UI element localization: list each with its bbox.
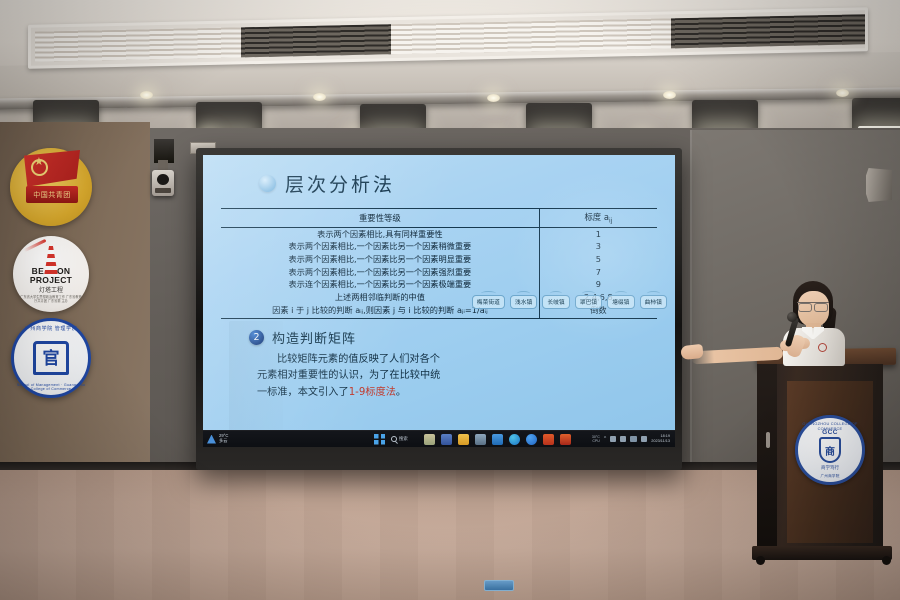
wall-seam — [690, 130, 692, 490]
windows-taskbar[interactable]: 29°C 多云 搜索 — [203, 430, 675, 447]
column-header-importance: 重要性等级 — [221, 209, 539, 228]
column-header-scale: 标度 aij — [539, 209, 657, 228]
slide-watermark — [229, 321, 283, 431]
town-pill: 曲柿镇 — [640, 295, 667, 309]
input-method-icon[interactable] — [630, 436, 637, 442]
perf-monitor-widget[interactable]: 30°C CPU — [592, 435, 600, 444]
bullet-dot-icon — [259, 175, 276, 192]
school-emblem-ring-en: School of Management · Guangzhou College… — [14, 383, 88, 391]
chevron-up-icon[interactable]: ^ — [604, 436, 606, 442]
ptz-camera — [152, 170, 174, 196]
cell-value: 1 — [539, 228, 657, 241]
communist-youth-league-emblem: 中国共青团 — [10, 148, 92, 226]
star-icon — [31, 159, 48, 176]
table-row: 表示连个因素相比,一个因素比另一个因素极端重要 9 — [221, 279, 657, 292]
table-header-row: 重要性等级 标度 aij — [221, 209, 657, 228]
section-heading: 构造判断矩阵 — [272, 328, 356, 347]
school-of-management-emblem: 广州商学院 管理学院 官 School of Management · Guan… — [11, 318, 91, 398]
beacon-subtitle: 广东省大学生思想政治教育工作 广东省教育厅共青团 广东省委 主办 — [20, 295, 82, 303]
cell-description: 表示两个因素相比,具有同样重要性 — [221, 228, 539, 241]
podium-side — [757, 364, 777, 546]
ceiling-downlight — [836, 89, 849, 97]
chrome-icon[interactable] — [526, 434, 537, 445]
lecture-hall-scene: 中国共青团 BEACON PROJECT 灯塔工程 广东省大学生思想政治教育工作… — [0, 0, 900, 600]
cell-description: 表示连个因素相比,一个因素比另一个因素极端重要 — [221, 279, 539, 292]
podium-caster — [882, 556, 891, 565]
podium-caster — [756, 556, 765, 565]
section-body-line1: 比较矩阵元素的值反映了人们对各个 — [277, 354, 440, 365]
school-emblem-glyph: 官 — [33, 341, 69, 375]
volume-icon[interactable] — [641, 436, 647, 442]
town-pill: 长岐镇 — [542, 295, 569, 309]
table-header: 重要性等级 标度 aij — [221, 209, 657, 228]
weather-desc: 多云 — [219, 439, 228, 444]
section-body-line2: 元素相对重要性的认识，为了在比较中统 — [257, 368, 463, 385]
column-header-scale-label: 标度 a — [584, 212, 609, 222]
beacon-title-en2: PROJECT — [30, 276, 72, 285]
cell-description: 表示两个因素相比,一个因素比另一个因素明显重要 — [221, 253, 539, 266]
table-row: 表示两个因素相比,具有同样重要性 1 — [221, 228, 657, 241]
wps-icon[interactable] — [543, 434, 554, 445]
battery-icon[interactable] — [620, 436, 626, 442]
town-pill: 梅菜街道 — [472, 295, 505, 309]
league-band-label: 中国共青团 — [26, 186, 78, 203]
taskbar-system-tray[interactable]: 30°C CPU ^ 18:19 2023/11/13 — [592, 434, 675, 443]
school-emblem-ring-cn: 广州商学院 管理学院 — [14, 325, 88, 332]
hvac-grille-dark-section — [671, 13, 868, 48]
podium-seal-shield-glyph: 商 — [819, 437, 841, 463]
wps-presentation-icon[interactable] — [560, 434, 571, 445]
podium-seal-motto: 商学笃行 — [821, 465, 839, 471]
cell-description: 表示两个因素相比,一个因素比另一个因素强烈重要 — [221, 266, 539, 279]
table-row: 表示两个因素相比,一个因素比另一个因素稍微重要 3 — [221, 241, 657, 254]
edge-icon[interactable] — [509, 434, 520, 445]
mail-icon[interactable] — [492, 434, 503, 445]
start-icon[interactable] — [374, 434, 385, 445]
smart-board[interactable]: 层次分析法 重要性等级 标度 aij 表示两个因素相比,具有同样重要性 — [196, 148, 682, 470]
file-explorer-icon[interactable] — [424, 434, 435, 445]
cell-value: 5 — [539, 253, 657, 266]
podium-base — [752, 546, 892, 560]
perf-cpu: CPU — [592, 439, 600, 443]
student-presenter — [777, 281, 855, 363]
cell-value: 9 — [539, 279, 657, 292]
folder-icon[interactable] — [458, 434, 469, 445]
stage-light — [852, 98, 900, 132]
taskbar-center[interactable]: 搜索 — [353, 434, 592, 445]
floor-outlet-box — [484, 580, 514, 591]
podium-seal-ring-en: GUANGZHOU COLLEGE OF COMMERCE — [798, 421, 862, 431]
podium-seal: GUANGZHOU COLLEGE OF COMMERCE GCC 商 商学笃行… — [795, 415, 865, 485]
search-icon — [391, 436, 397, 442]
clock-date: 2023/11/13 — [651, 439, 670, 444]
beacon-project-emblem: BEACON PROJECT 灯塔工程 广东省大学生思想政治教育工作 广东省教育… — [13, 236, 89, 312]
section-body: 比较矩阵元素的值反映了人们对各个 元素相对重要性的认识，为了在比较中统 一标准，… — [257, 352, 463, 402]
table-row: 表示两个因素相比,一个因素比另一个因素明显重要 5 — [221, 253, 657, 266]
town-pill: 罩巴镇 — [575, 295, 602, 309]
section-body-line3: 一标准，本文引入了1-9标度法。 — [257, 385, 463, 402]
cell-value: 7 — [539, 266, 657, 279]
town-pill: 塘缀镇 — [607, 295, 634, 309]
column-header-scale-sub: ij — [609, 218, 612, 225]
ceiling-downlight — [663, 91, 676, 99]
section-body-highlight: 1-9标度法 — [349, 387, 396, 398]
weather-text: 29°C 多云 — [219, 434, 228, 444]
podium-seal-ring-cn: 广州商学院 — [798, 474, 862, 479]
microphone-icon — [787, 312, 797, 322]
search-placeholder: 搜索 — [399, 436, 408, 442]
board-screen[interactable]: 层次分析法 重要性等级 标度 aij 表示两个因素相比,具有同样重要性 — [203, 155, 675, 447]
search-box[interactable]: 搜索 — [391, 436, 408, 442]
presentation-slide: 层次分析法 重要性等级 标度 aij 表示两个因素相比,具有同样重要性 — [203, 155, 675, 447]
shirt-logo — [818, 343, 827, 352]
ceiling-downlight — [140, 91, 153, 99]
ceiling-downlight — [487, 94, 500, 102]
store-icon[interactable] — [441, 434, 452, 445]
wall-speaker-right — [866, 168, 892, 202]
slide-title: 层次分析法 — [285, 170, 395, 197]
hvac-grille-dark-section — [241, 24, 391, 57]
taskbar-clock[interactable]: 18:19 2023/11/13 — [651, 434, 670, 443]
glasses-icon — [797, 302, 829, 309]
section-body-line3-post: 。 — [396, 387, 406, 398]
town-pill: 浅水镇 — [510, 295, 537, 309]
cell-description: 表示两个因素相比,一个因素比另一个因素稍微重要 — [221, 241, 539, 254]
section-heading-row: 2 构造判断矩阵 — [249, 328, 661, 347]
weather-icon — [207, 435, 216, 444]
lighthouse-icon — [44, 246, 58, 276]
taskbar-weather-widget[interactable]: 29°C 多云 — [203, 434, 353, 444]
slide-title-row: 层次分析法 — [259, 170, 661, 197]
ceiling-downlight — [313, 93, 326, 101]
town-label-row: 梅菜街道 浅水镇 长岐镇 罩巴镇 塘缀镇 曲柿镇 — [472, 295, 667, 309]
podium-handle — [766, 432, 770, 448]
cell-value: 3 — [539, 241, 657, 254]
table-row: 表示两个因素相比,一个因素比另一个因素强烈重要 7 — [221, 266, 657, 279]
network-icon[interactable] — [610, 436, 616, 442]
beacon-title-cn: 灯塔工程 — [39, 285, 63, 294]
camera-icon[interactable] — [475, 434, 486, 445]
pointing-hand — [680, 344, 703, 360]
